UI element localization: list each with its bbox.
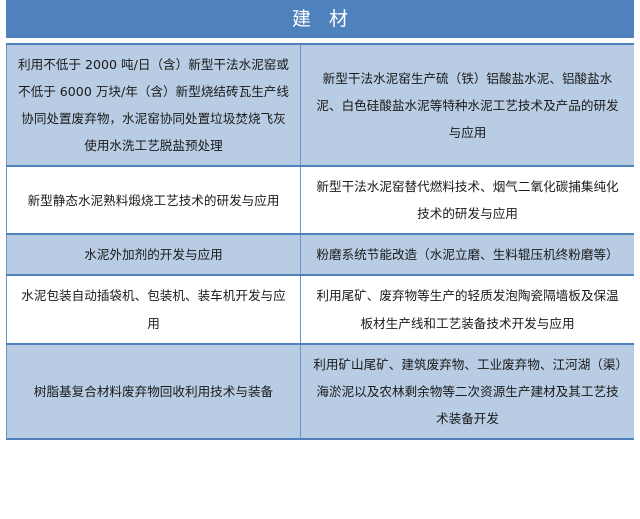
table-row: 树脂基复合材料废弃物回收利用技术与装备 利用矿山尾矿、建筑废弃物、工业废弃物、江… [7, 344, 635, 439]
page-title: 建 材 [286, 10, 354, 29]
page-root: 建 材 利用不低于 2000 吨/日（含）新型干法水泥窑或不低于 6000 万块… [0, 0, 640, 519]
table-row: 水泥包装自动插袋机、包装机、装车机开发与应用 利用尾矿、废弃物等生产的轻质发泡陶… [7, 275, 635, 343]
cell-text: 水泥包装自动插袋机、包装机、装车机开发与应用 [17, 282, 290, 336]
table-cell-left: 水泥外加剂的开发与应用 [7, 234, 301, 275]
table-body: 利用不低于 2000 吨/日（含）新型干法水泥窑或不低于 6000 万块/年（含… [7, 44, 635, 439]
cell-text: 新型干法水泥窑生产硫（铁）铝酸盐水泥、铝酸盐水泥、白色硅酸盐水泥等特种水泥工艺技… [311, 65, 624, 146]
table-row: 水泥外加剂的开发与应用 粉磨系统节能改造（水泥立磨、生料辊压机终粉磨等） [7, 234, 635, 275]
table-cell-left: 树脂基复合材料废弃物回收利用技术与装备 [7, 344, 301, 439]
table-cell-right: 利用尾矿、废弃物等生产的轻质发泡陶瓷隔墙板及保温板材生产线和工艺装备技术开发与应… [301, 275, 635, 343]
cell-text: 水泥外加剂的开发与应用 [17, 241, 290, 268]
table-cell-left: 水泥包装自动插袋机、包装机、装车机开发与应用 [7, 275, 301, 343]
table-cell-right: 新型干法水泥窑替代燃料技术、烟气二氧化碳捕集纯化技术的研发与应用 [301, 166, 635, 234]
cell-text: 新型干法水泥窑替代燃料技术、烟气二氧化碳捕集纯化技术的研发与应用 [311, 173, 624, 227]
table-cell-right: 新型干法水泥窑生产硫（铁）铝酸盐水泥、铝酸盐水泥、白色硅酸盐水泥等特种水泥工艺技… [301, 44, 635, 166]
cell-text: 新型静态水泥熟料煅烧工艺技术的研发与应用 [17, 187, 290, 214]
table-cell-left: 新型静态水泥熟料煅烧工艺技术的研发与应用 [7, 166, 301, 234]
table-cell-left: 利用不低于 2000 吨/日（含）新型干法水泥窑或不低于 6000 万块/年（含… [7, 44, 301, 166]
cell-text: 利用矿山尾矿、建筑废弃物、工业废弃物、江河湖（渠）海淤泥以及农林剩余物等二次资源… [311, 351, 624, 432]
cell-text: 粉磨系统节能改造（水泥立磨、生料辊压机终粉磨等） [311, 241, 624, 268]
cell-text: 利用不低于 2000 吨/日（含）新型干法水泥窑或不低于 6000 万块/年（含… [17, 51, 290, 159]
table-row: 利用不低于 2000 吨/日（含）新型干法水泥窑或不低于 6000 万块/年（含… [7, 44, 635, 166]
table-container: 利用不低于 2000 吨/日（含）新型干法水泥窑或不低于 6000 万块/年（含… [6, 43, 634, 519]
technology-catalog-table: 利用不低于 2000 吨/日（含）新型干法水泥窑或不低于 6000 万块/年（含… [6, 43, 634, 440]
table-cell-right: 粉磨系统节能改造（水泥立磨、生料辊压机终粉磨等） [301, 234, 635, 275]
cell-text: 利用尾矿、废弃物等生产的轻质发泡陶瓷隔墙板及保温板材生产线和工艺装备技术开发与应… [311, 282, 624, 336]
cell-text: 树脂基复合材料废弃物回收利用技术与装备 [17, 378, 290, 405]
header-banner: 建 材 [6, 0, 634, 38]
table-row: 新型静态水泥熟料煅烧工艺技术的研发与应用 新型干法水泥窑替代燃料技术、烟气二氧化… [7, 166, 635, 234]
table-cell-right: 利用矿山尾矿、建筑废弃物、工业废弃物、江河湖（渠）海淤泥以及农林剩余物等二次资源… [301, 344, 635, 439]
